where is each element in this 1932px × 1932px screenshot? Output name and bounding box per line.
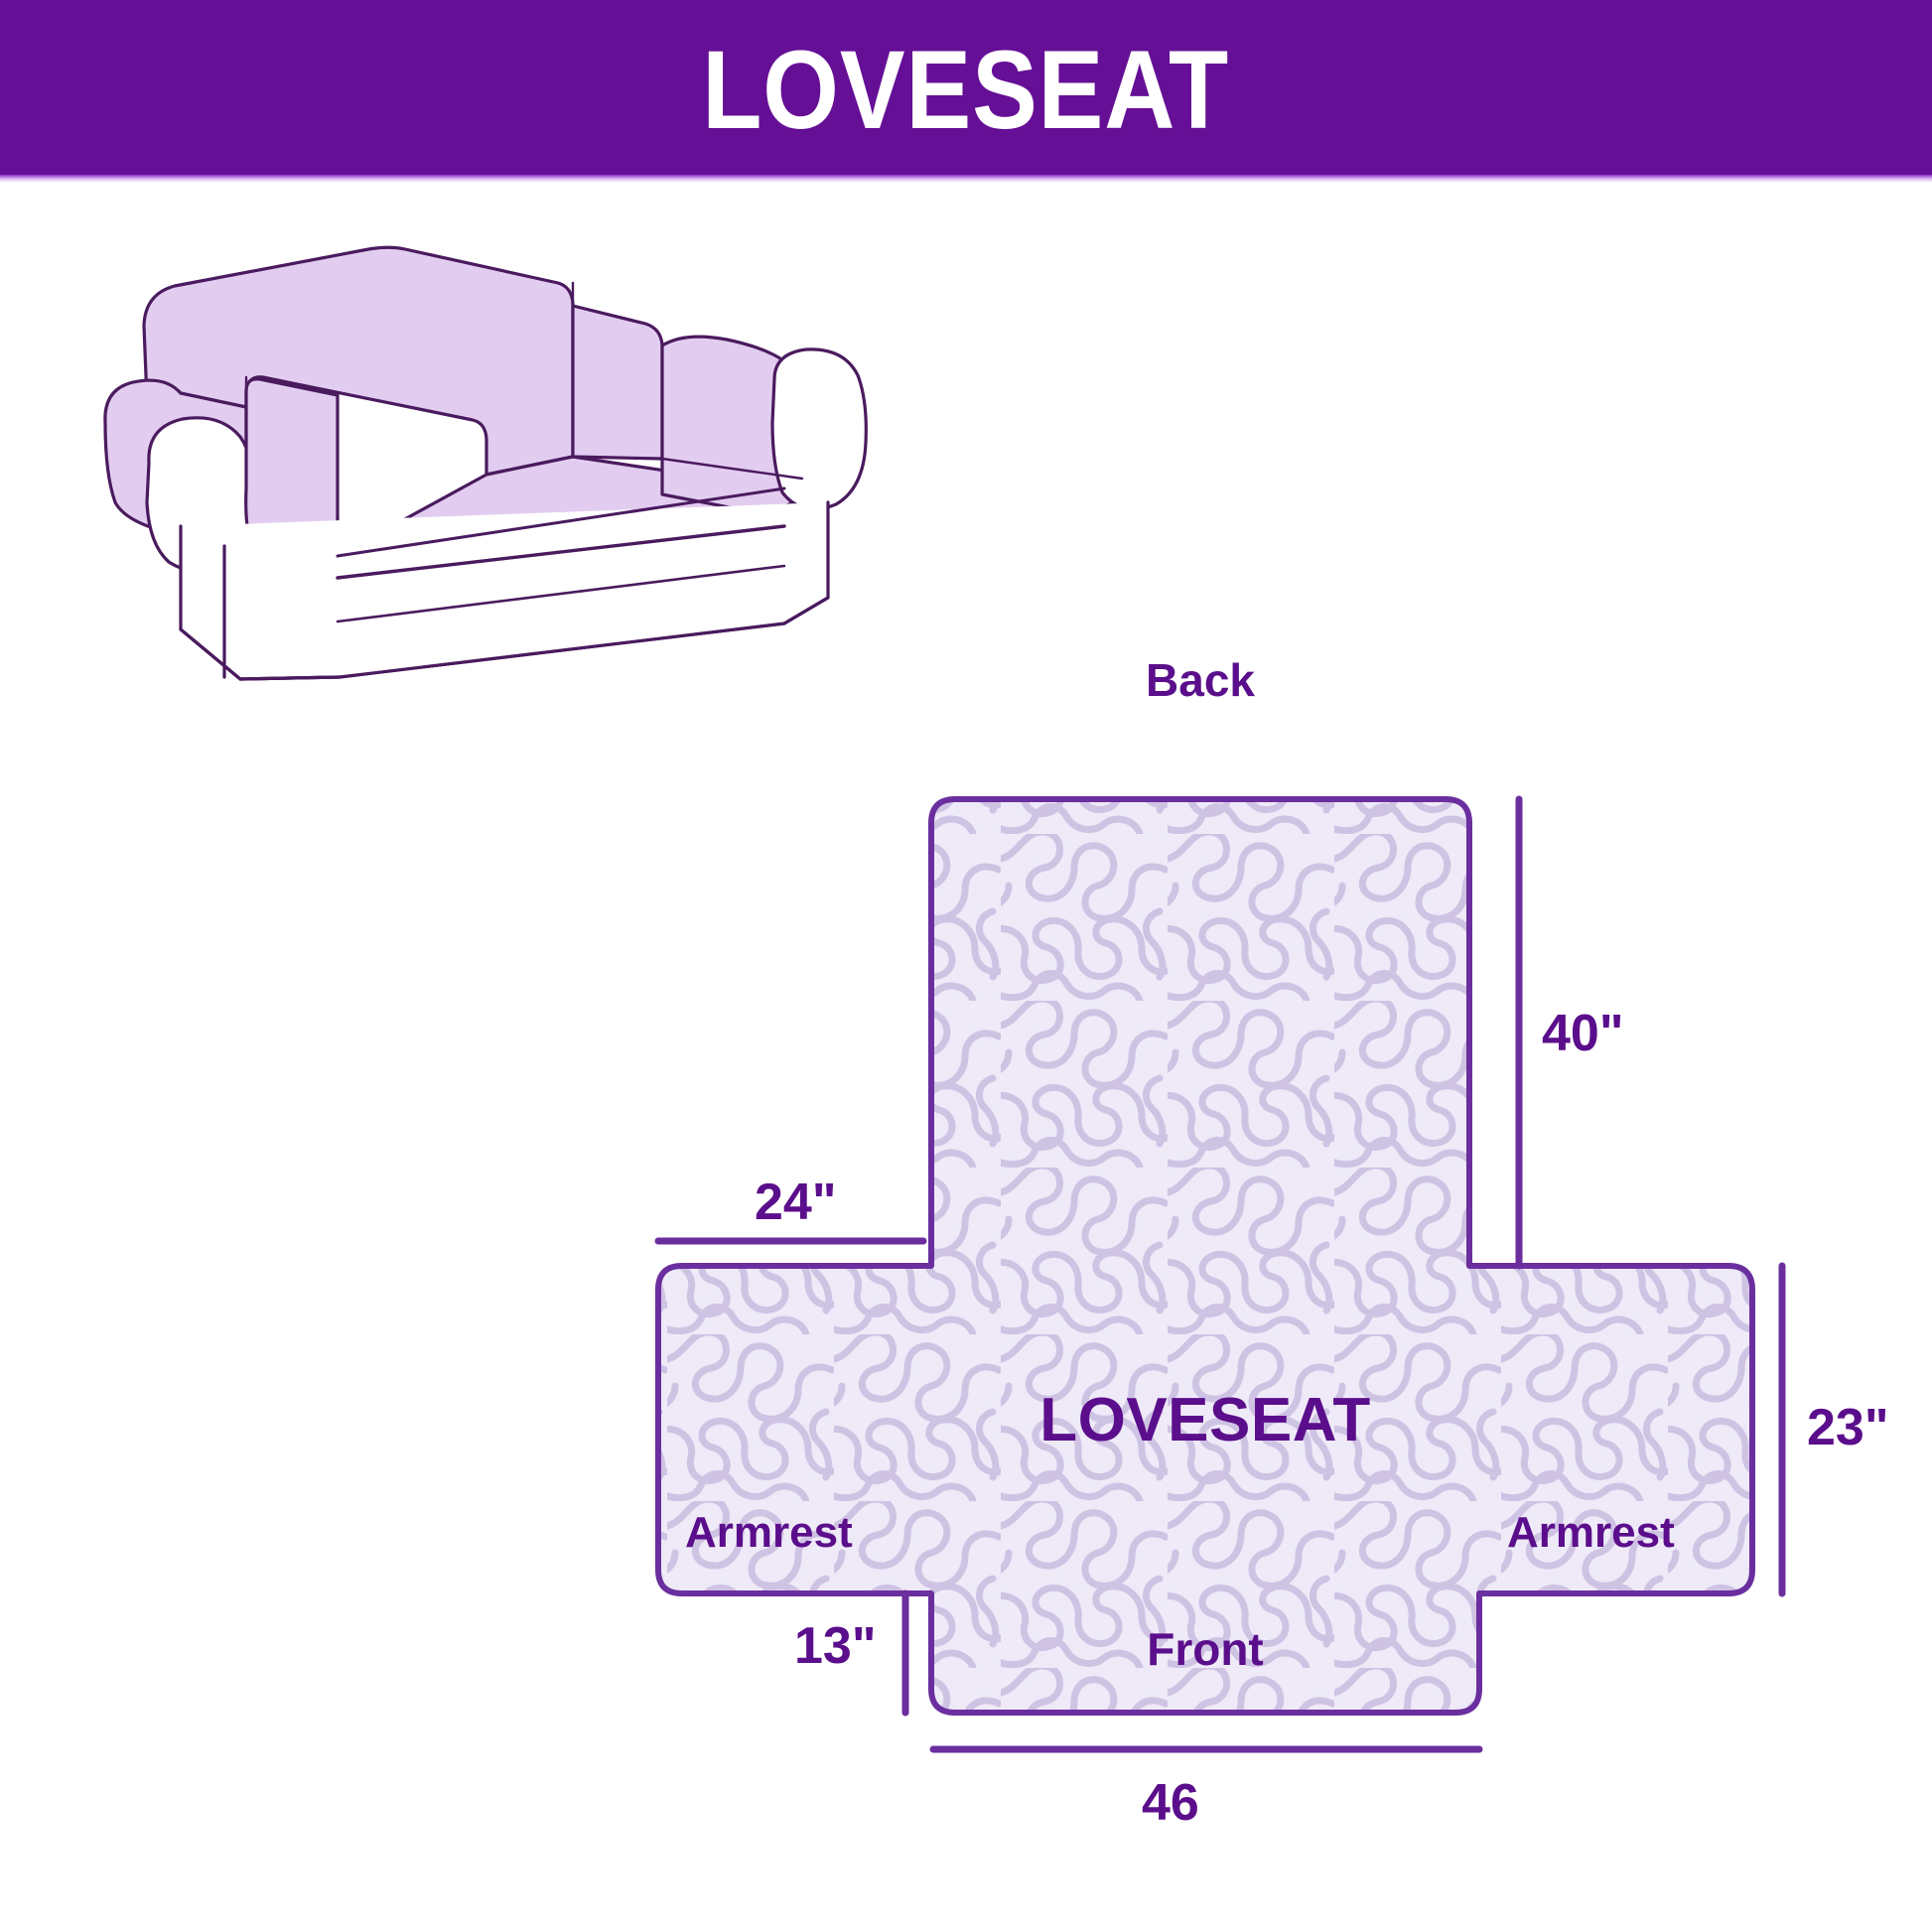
dimension-front-height: 13" xyxy=(794,1620,877,1672)
product-dimension-diagram: LOVESEAT xyxy=(0,0,1932,1932)
label-armrest-left: Armrest xyxy=(685,1511,853,1555)
dimension-armrest-depth: 23" xyxy=(1807,1402,1889,1453)
label-armrest-right: Armrest xyxy=(1507,1511,1675,1555)
dimension-back-offset: 24" xyxy=(755,1176,837,1228)
loveseat-illustration xyxy=(89,228,884,695)
banner-divider xyxy=(0,175,1932,183)
label-cover-name: LOVESEAT xyxy=(931,1390,1479,1451)
label-back: Back xyxy=(931,657,1469,703)
cover-shape xyxy=(658,799,1752,1713)
header-banner: LOVESEAT xyxy=(0,0,1932,181)
dimension-lines xyxy=(658,799,1782,1749)
label-front: Front xyxy=(931,1626,1479,1672)
dimension-front-width: 46 xyxy=(1142,1777,1199,1829)
page-title: LOVESEAT xyxy=(703,35,1230,146)
dimension-back-height: 40" xyxy=(1542,1008,1624,1059)
